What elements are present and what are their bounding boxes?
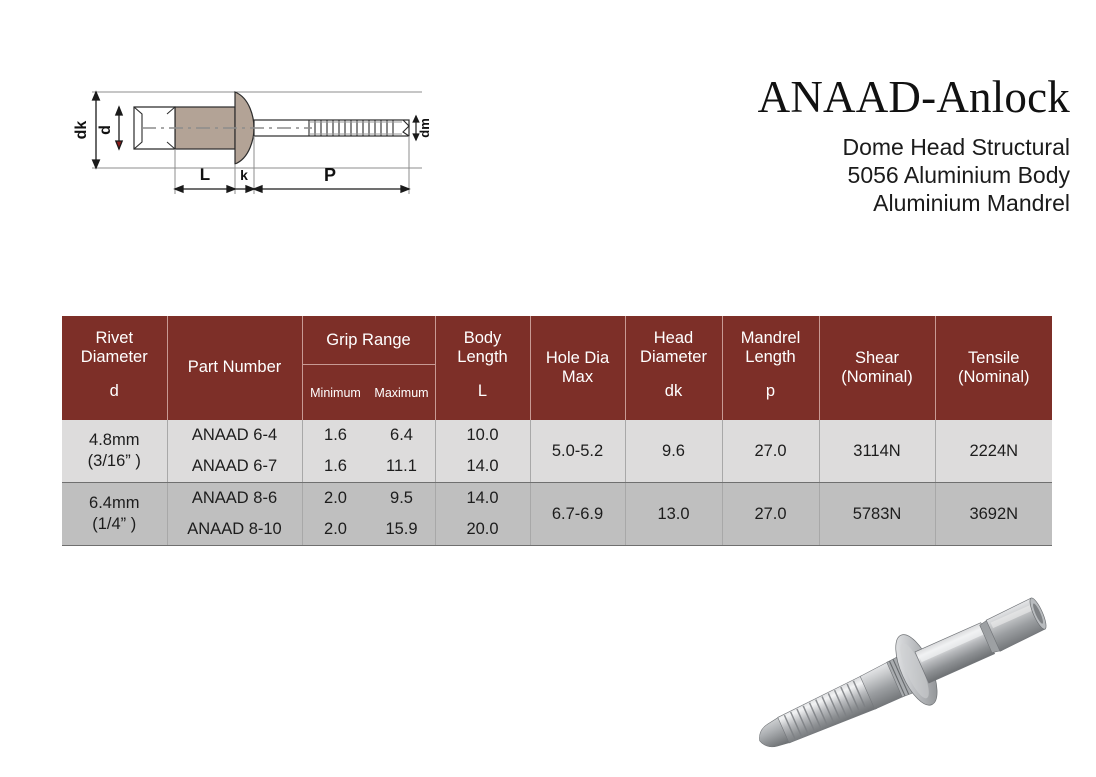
cell-head-diameter: 13.0 xyxy=(625,483,722,546)
rivet-diameter-inch: (3/16” ) xyxy=(88,451,141,472)
col-header-rivet-diameter: Rivet Diameter d xyxy=(62,316,167,420)
col-symbol-L: L xyxy=(478,367,487,413)
cell-rivet-diameter: 6.4mm (1/4” ) xyxy=(62,483,167,546)
grip-max: 15.9 xyxy=(369,514,435,545)
cell-body-length: 14.0 20.0 xyxy=(435,483,530,546)
hole-dia-max-value: 6.7-6.9 xyxy=(531,483,625,545)
col-header-line2: (Nominal) xyxy=(958,368,1030,387)
part-number: ANAAD 6-7 xyxy=(168,451,302,482)
col-header-line2: Max xyxy=(546,368,609,387)
table-header: Rivet Diameter d Part Number Grip Range … xyxy=(62,316,1052,420)
cell-grip-range: 2.0 2.0 9.5 15.9 xyxy=(302,483,435,546)
col-symbol-dk: dk xyxy=(665,367,682,413)
mandrel-length-value: 27.0 xyxy=(723,483,819,545)
grip-minimum-values: 1.6 1.6 xyxy=(303,420,369,482)
part-number: ANAAD 6-4 xyxy=(168,420,302,451)
tensile-value: 2224N xyxy=(936,420,1053,482)
col-header-line2: Length xyxy=(457,348,507,367)
grip-min: 1.6 xyxy=(303,420,369,451)
shear-value: 3114N xyxy=(820,420,935,482)
col-header-line2: Diameter xyxy=(640,348,707,367)
cell-mandrel-length: 27.0 xyxy=(722,420,819,483)
table-body: 4.8mm (3/16” ) ANAAD 6-4 ANAAD 6-7 1.6 1… xyxy=(62,420,1052,546)
label-dk: dk xyxy=(73,121,90,140)
dim-P xyxy=(254,186,409,192)
grip-min: 1.6 xyxy=(303,451,369,482)
rivet-product-photo xyxy=(742,578,1072,770)
subtitle-line-2: 5056 Aluminium Body xyxy=(600,161,1070,189)
cell-rivet-diameter: 4.8mm (3/16” ) xyxy=(62,420,167,483)
dim-k xyxy=(235,186,254,192)
col-header-part-number: Part Number xyxy=(167,316,302,420)
grip-min: 2.0 xyxy=(303,483,369,514)
col-symbol-p: p xyxy=(766,367,775,413)
col-header-grip-maximum: Maximum xyxy=(369,365,435,420)
cell-mandrel-length: 27.0 xyxy=(722,483,819,546)
rivet-assembly xyxy=(744,579,1059,770)
cell-tensile: 2224N xyxy=(935,420,1052,483)
grip-minimum-values: 2.0 2.0 xyxy=(303,483,369,545)
col-header-line1: Mandrel xyxy=(741,329,801,348)
shear-value: 5783N xyxy=(820,483,935,545)
head-diameter-value: 13.0 xyxy=(626,483,722,545)
rivet-diameter-mm: 4.8mm xyxy=(89,430,139,451)
col-header-line1: Shear xyxy=(841,349,913,368)
cell-shear: 5783N xyxy=(819,483,935,546)
cell-part-numbers: ANAAD 8-6 ANAAD 8-10 xyxy=(167,483,302,546)
head-diameter-value: 9.6 xyxy=(626,420,722,482)
col-header-head-diameter: Head Diameter dk xyxy=(625,316,722,420)
label-P: P xyxy=(324,165,336,185)
body-length: 14.0 xyxy=(436,483,530,514)
label-d: d xyxy=(97,125,114,135)
cell-hole-dia-max: 6.7-6.9 xyxy=(530,483,625,546)
title-block: ANAAD-Anlock Dome Head Structural 5056 A… xyxy=(600,74,1070,217)
col-header-line1: Rivet xyxy=(81,329,148,348)
cell-tensile: 3692N xyxy=(935,483,1052,546)
col-header-body-length: Body Length L xyxy=(435,316,530,420)
specification-table: Rivet Diameter d Part Number Grip Range … xyxy=(62,316,1052,546)
header-row: Rivet Diameter d Part Number Grip Range … xyxy=(62,316,1052,420)
mandrel-length-value: 27.0 xyxy=(723,420,819,482)
body-length: 20.0 xyxy=(436,514,530,545)
cell-part-numbers: ANAAD 6-4 ANAAD 6-7 xyxy=(167,420,302,483)
rivet-photo-svg xyxy=(742,578,1072,770)
cell-hole-dia-max: 5.0-5.2 xyxy=(530,420,625,483)
body-length: 10.0 xyxy=(436,420,530,451)
col-header-grip-minimum: Minimum xyxy=(303,365,369,420)
part-number: ANAAD 8-6 xyxy=(168,483,302,514)
col-header-line1: Part Number xyxy=(188,358,282,377)
rivet-diameter-inch: (1/4” ) xyxy=(92,514,136,535)
col-header-shear-nominal: Shear (Nominal) xyxy=(819,316,935,420)
label-L: L xyxy=(200,165,210,184)
grip-max: 9.5 xyxy=(369,483,435,514)
cell-shear: 3114N xyxy=(819,420,935,483)
col-header-line1: Hole Dia xyxy=(546,349,609,368)
specification-table-container: Rivet Diameter d Part Number Grip Range … xyxy=(62,316,1052,546)
product-subtitle: Dome Head Structural 5056 Aluminium Body… xyxy=(600,133,1070,217)
rivet-cross-section-svg: dk d L k P dm xyxy=(72,76,442,211)
body-length: 14.0 xyxy=(436,451,530,482)
cell-grip-range: 1.6 1.6 6.4 11.1 xyxy=(302,420,435,483)
cell-body-length: 10.0 14.0 xyxy=(435,420,530,483)
col-header-line2: Length xyxy=(741,348,801,367)
col-header-line2: (Nominal) xyxy=(841,368,913,387)
tensile-value: 3692N xyxy=(936,483,1053,545)
col-header-mandrel-length: Mandrel Length p xyxy=(722,316,819,420)
table-row: 4.8mm (3/16” ) ANAAD 6-4 ANAAD 6-7 1.6 1… xyxy=(62,420,1052,483)
col-header-tensile-nominal: Tensile (Nominal) xyxy=(935,316,1052,420)
technical-drawing: dk d L k P dm xyxy=(72,76,442,211)
table-row: 6.4mm (1/4” ) ANAAD 8-6 ANAAD 8-10 2.0 2… xyxy=(62,483,1052,546)
part-number: ANAAD 8-10 xyxy=(168,514,302,545)
col-header-grip-range-label: Grip Range xyxy=(303,316,435,365)
col-header-grip-range: Grip Range Minimum Maximum xyxy=(302,316,435,420)
col-header-line1: Head xyxy=(640,329,707,348)
rivet-diameter-mm: 6.4mm xyxy=(89,493,139,514)
page-title: ANAAD-Anlock xyxy=(600,74,1070,121)
col-header-line2: Diameter xyxy=(81,348,148,367)
label-k: k xyxy=(240,167,248,183)
label-dm: dm xyxy=(417,118,432,138)
hole-dia-max-value: 5.0-5.2 xyxy=(531,420,625,482)
grip-maximum-values: 9.5 15.9 xyxy=(369,483,435,545)
grip-max: 6.4 xyxy=(369,420,435,451)
dim-d xyxy=(116,107,122,149)
col-header-line1: Tensile xyxy=(958,349,1030,368)
grip-maximum-values: 6.4 11.1 xyxy=(369,420,435,482)
col-header-line1: Body xyxy=(457,329,507,348)
col-symbol-d: d xyxy=(110,367,119,413)
mandrel-ribbed-shank xyxy=(776,676,877,747)
dim-L xyxy=(175,186,235,192)
grip-max: 11.1 xyxy=(369,451,435,482)
subtitle-line-3: Aluminium Mandrel xyxy=(600,189,1070,217)
cell-head-diameter: 9.6 xyxy=(625,420,722,483)
subtitle-line-1: Dome Head Structural xyxy=(600,133,1070,161)
col-header-hole-dia-max: Hole Dia Max xyxy=(530,316,625,420)
grip-min: 2.0 xyxy=(303,514,369,545)
